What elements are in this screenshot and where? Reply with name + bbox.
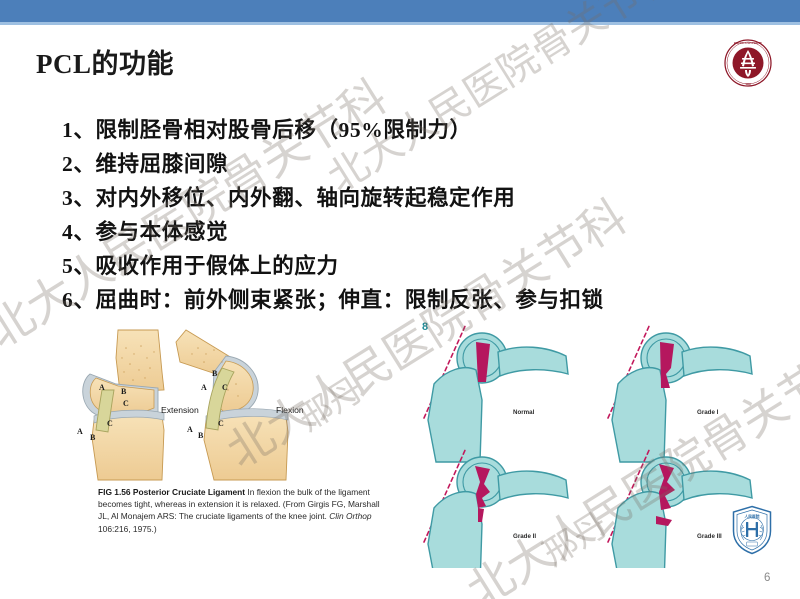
panel-label-normal: Normal xyxy=(513,409,535,416)
svg-text:B: B xyxy=(212,369,218,378)
panel-grade-1 xyxy=(608,324,752,462)
svg-text:人民医院: 人民医院 xyxy=(744,514,759,519)
content-list: 1、限制胫骨相对股骨后移（95%限制力） 2、维持屈膝间隙 3、对内外移位、内外… xyxy=(62,113,782,317)
slide-canvas: PCL的功能 PEKING UNIVERSITY 1898 1、限制胫骨相对股骨… xyxy=(0,0,800,599)
svg-text:PEKING UNIVERSITY: PEKING UNIVERSITY xyxy=(734,42,762,45)
svg-text:B: B xyxy=(121,387,127,396)
list-item: 5、吸收作用于假体上的应力 xyxy=(62,249,782,283)
figure-title: Posterior Cruciate Ligament xyxy=(133,487,245,497)
svg-text:B: B xyxy=(90,433,96,442)
svg-text:A: A xyxy=(99,383,105,392)
page-number: 6 xyxy=(764,572,770,584)
svg-text:C: C xyxy=(123,399,129,408)
knee-anatomy-figure: A B C A B C Extension xyxy=(46,328,386,546)
figure-caption: FIG 1.56 Posterior Cruciate Ligament In … xyxy=(98,486,388,535)
list-item: 2、维持屈膝间隙 xyxy=(62,147,782,181)
list-item: 1、限制胫骨相对股骨后移（95%限制力） xyxy=(62,113,782,147)
header-rule xyxy=(0,22,800,25)
hospital-shield-icon: 人民医院 xyxy=(731,505,773,555)
panel-grade-2 xyxy=(424,448,568,568)
list-item: 3、对内外移位、内外翻、轴向旋转起稳定作用 xyxy=(62,181,782,215)
svg-text:A: A xyxy=(201,383,207,392)
page-title: PCL的功能 xyxy=(36,42,174,81)
svg-text:C: C xyxy=(218,419,224,428)
svg-text:C: C xyxy=(107,419,113,428)
panel-normal xyxy=(424,324,568,462)
list-item: 6、屈曲时：前外侧束紧张；伸直：限制反张、参与扣锁 xyxy=(62,283,782,317)
panel-label-grade-2: Grade II xyxy=(513,533,536,540)
list-item: 4、参与本体感觉 xyxy=(62,215,782,249)
knee-anatomy-illustration: A B C A B C Extension xyxy=(46,328,386,483)
figure-caption-journal: Clin Orthop xyxy=(329,511,371,521)
panel-label-grade-1: Grade I xyxy=(697,409,719,416)
label-flexion: Flexion xyxy=(276,405,304,415)
svg-text:C: C xyxy=(222,383,228,392)
panel-label-grade-3: Grade III xyxy=(697,533,722,540)
figure-number: FIG 1.56 xyxy=(98,487,131,497)
figure-caption-text-2: 106:216, 1975.) xyxy=(98,524,157,534)
svg-text:B: B xyxy=(198,431,204,440)
svg-text:A: A xyxy=(187,425,193,434)
pku-seal-icon: PEKING UNIVERSITY 1898 xyxy=(723,38,773,88)
label-extension: Extension xyxy=(161,405,199,415)
figure-index-label: 8 xyxy=(422,321,428,333)
svg-text:1898: 1898 xyxy=(745,83,751,86)
svg-text:A: A xyxy=(77,427,83,436)
header-bar xyxy=(0,0,800,22)
